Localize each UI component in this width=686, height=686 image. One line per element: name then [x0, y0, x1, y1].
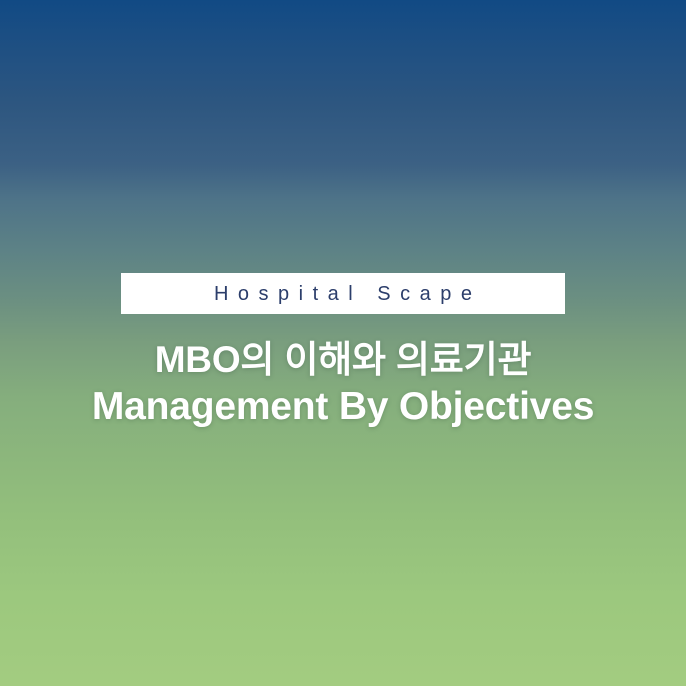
poster-title-line-1: MBO의 이해와 의료기관 [92, 336, 594, 383]
poster-title: MBO의 이해와 의료기관 Management By Objectives [92, 336, 594, 430]
brand-banner-label: Hospital Scape [204, 284, 481, 304]
brand-banner: Hospital Scape [121, 273, 565, 314]
poster-content: Hospital Scape MBO의 이해와 의료기관 Management … [0, 273, 686, 430]
poster-background: Hospital Scape MBO의 이해와 의료기관 Management … [0, 0, 686, 686]
poster-title-line-2: Management By Objectives [92, 383, 594, 430]
